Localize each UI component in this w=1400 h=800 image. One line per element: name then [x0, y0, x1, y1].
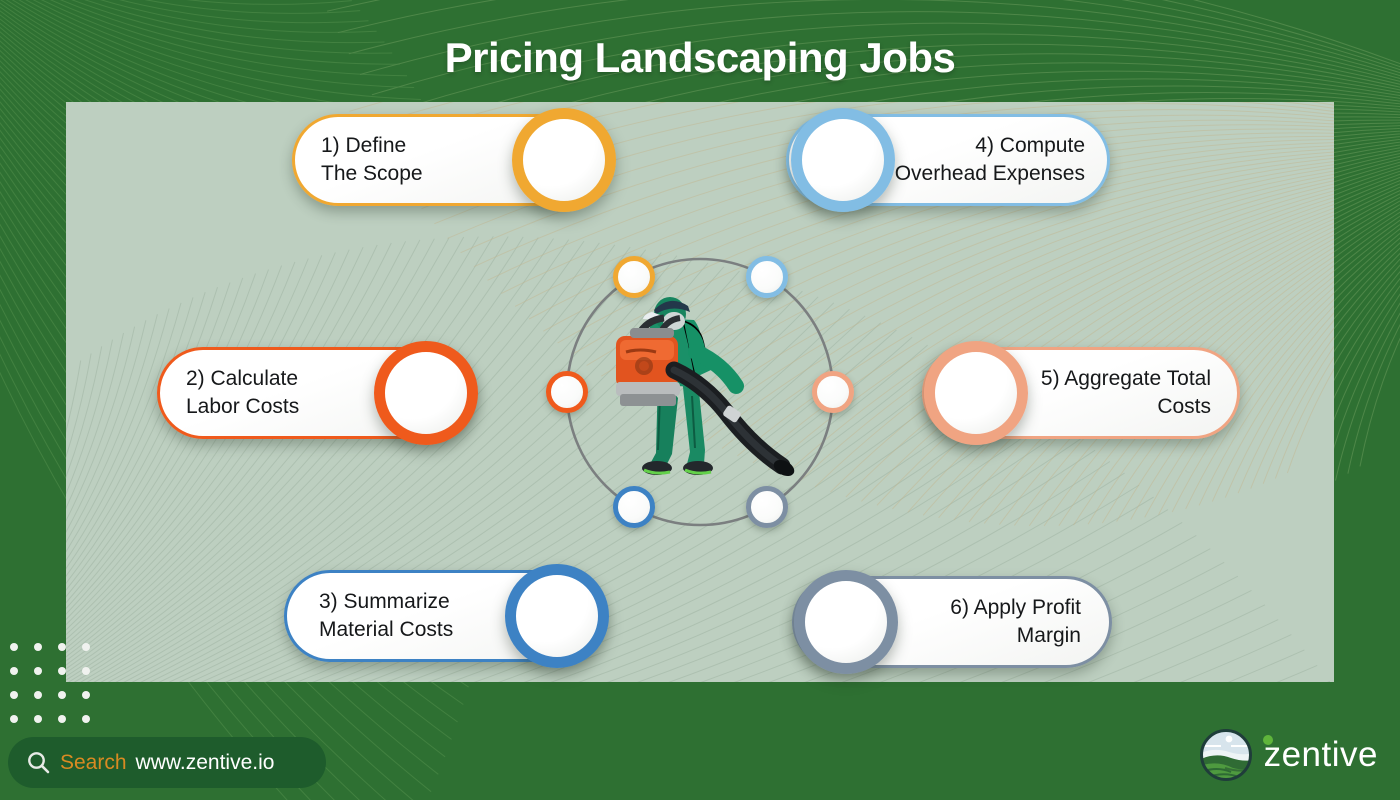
- search-placeholder-label: Search: [60, 751, 127, 775]
- hub-node-6[interactable]: [746, 486, 788, 528]
- hub-node-5[interactable]: [812, 371, 854, 413]
- step-card-6-label: 6) Apply Profit Margin: [891, 594, 1081, 649]
- hub-node-1[interactable]: [613, 256, 655, 298]
- brand-i-dot: [1262, 734, 1274, 746]
- step-knob-2[interactable]: [374, 341, 478, 445]
- brand-lockup[interactable]: zentive: [1199, 728, 1378, 782]
- step-card-1-label: 1) Define The Scope: [321, 132, 503, 187]
- step-card-5-label: 5) Aggregate Total Costs: [1017, 365, 1211, 420]
- step-card-3-label: 3) Summarize Material Costs: [319, 588, 505, 643]
- step-knob-4[interactable]: [791, 108, 895, 212]
- step-card-2-label: 2) Calculate Labor Costs: [186, 365, 380, 420]
- hub-node-4[interactable]: [746, 256, 788, 298]
- landscaper-illustration: [586, 278, 816, 488]
- brand-wordmark: zentive: [1264, 735, 1378, 775]
- search-url-value: www.zentive.io: [136, 751, 275, 775]
- hub-node-2[interactable]: [546, 371, 588, 413]
- page-title: Pricing Landscaping Jobs: [0, 34, 1400, 82]
- search-icon: [26, 750, 51, 775]
- step-knob-5[interactable]: [924, 341, 1028, 445]
- search-bar[interactable]: Search www.zentive.io: [8, 737, 326, 788]
- step-card-4-label: 4) Compute Overhead Expenses: [885, 132, 1085, 187]
- step-knob-1[interactable]: [512, 108, 616, 212]
- hub-node-3[interactable]: [613, 486, 655, 528]
- step-knob-6[interactable]: [794, 570, 898, 674]
- zentive-logo-icon: [1199, 728, 1253, 782]
- step-knob-3[interactable]: [505, 564, 609, 668]
